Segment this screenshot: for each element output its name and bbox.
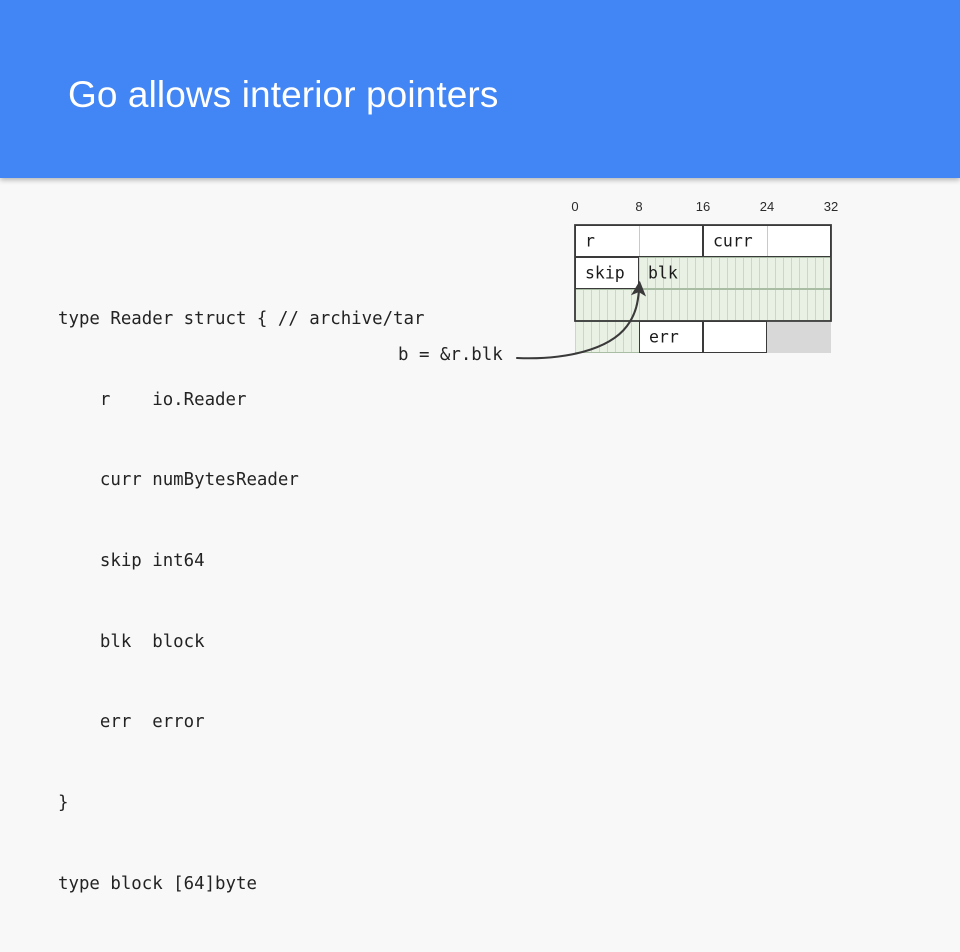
slide-header-band: Go allows interior pointers [0, 0, 960, 178]
ruler-tick-label: 16 [696, 199, 710, 214]
memory-field-curr: curr [703, 225, 831, 257]
memory-field-label: r [585, 232, 595, 251]
code-line: curr numBytesReader [58, 467, 424, 494]
ruler-tick-label: 0 [571, 199, 578, 214]
ruler-tick-label: 8 [635, 199, 642, 214]
memory-cell-gray [767, 321, 831, 353]
memory-field-r: r [575, 225, 703, 257]
page-title: Go allows interior pointers [68, 74, 498, 116]
memory-cell-white [703, 321, 767, 353]
memory-field-label: curr [713, 232, 753, 251]
memory-field-blk: blk [639, 257, 831, 289]
code-line: type block [64]byte [58, 871, 424, 898]
code-line: blk block [58, 629, 424, 656]
pointer-expression-label: b = &r.blk [398, 345, 503, 365]
ruler-tick-label: 32 [824, 199, 838, 214]
memory-row: rcurr [575, 225, 831, 257]
code-line: } [58, 790, 424, 817]
code-line: err error [58, 709, 424, 736]
code-line: r io.Reader [58, 387, 424, 414]
code-line: type Reader struct { // archive/tar [58, 306, 424, 333]
byte-offset-ruler: 08162432 [575, 199, 831, 219]
code-line: skip int64 [58, 548, 424, 575]
pointer-arrow [505, 270, 665, 370]
code-listing: type Reader struct { // archive/tar r io… [58, 252, 424, 952]
ruler-tick-label: 24 [760, 199, 774, 214]
